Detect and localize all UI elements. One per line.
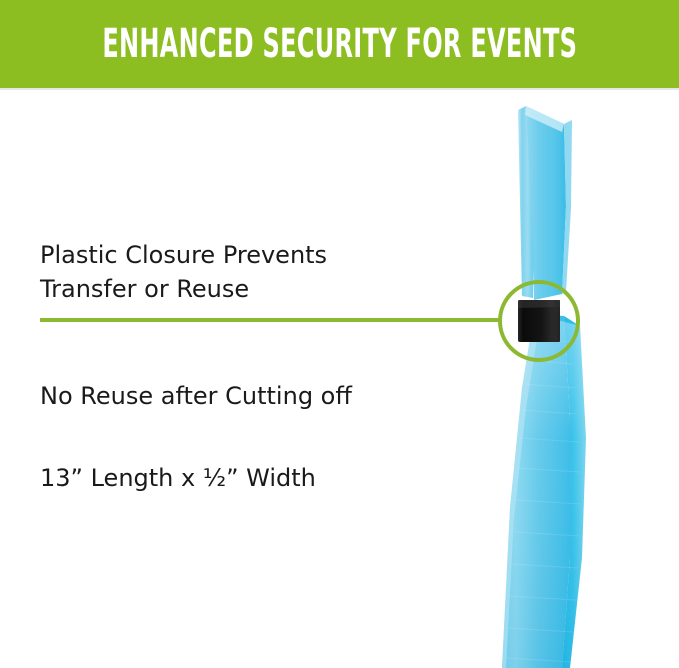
callout-leader-line <box>40 318 502 322</box>
feature-no-reuse: No Reuse after Cutting off <box>40 380 352 412</box>
feature-plastic-closure-line-2: Transfer or Reuse <box>40 272 460 306</box>
page-title: ENHANCED SECURITY FOR EVENTS <box>102 22 577 66</box>
feature-plastic-closure: Plastic Closure Prevents Transfer or Reu… <box>40 238 460 306</box>
callout-circle-closure <box>498 280 580 362</box>
feature-dimensions: 13” Length x ½” Width <box>40 462 316 494</box>
product-image-wristband <box>430 88 679 668</box>
header-banner: ENHANCED SECURITY FOR EVENTS <box>0 0 679 88</box>
feature-plastic-closure-line-1: Plastic Closure Prevents <box>40 238 460 272</box>
